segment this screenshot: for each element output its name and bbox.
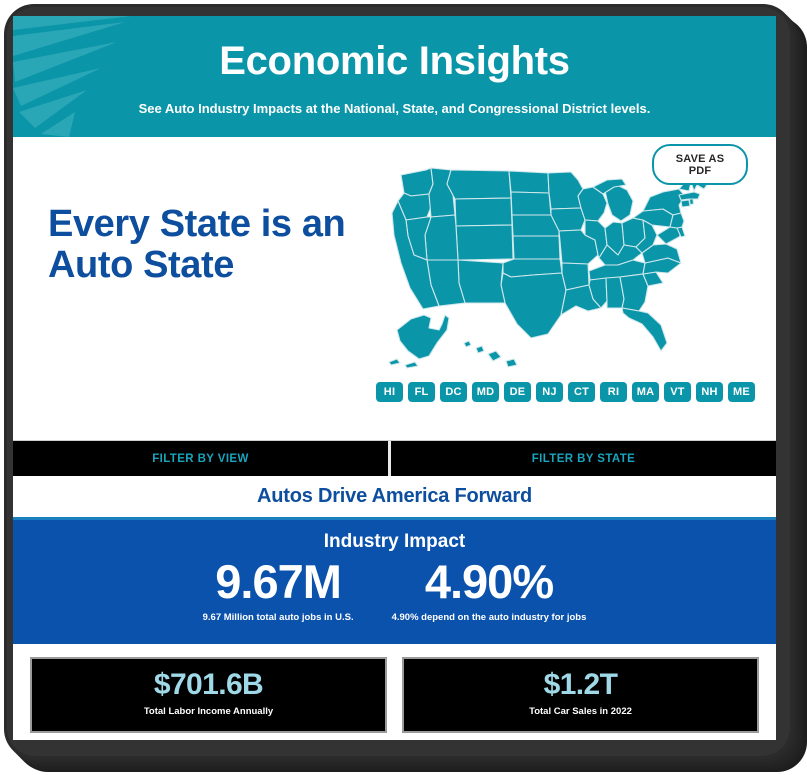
state-chip-nj[interactable]: NJ: [536, 382, 563, 402]
state-hi-2: [476, 346, 484, 353]
state-mt: [447, 170, 511, 199]
stat-total-auto-jobs: 9.67M 9.67 Million total auto jobs in U.…: [203, 558, 354, 623]
stat-value: 4.90%: [392, 558, 587, 605]
page-header: Economic Insights See Auto Industry Impa…: [13, 16, 776, 137]
page-subtitle: See Auto Industry Impacts at the Nationa…: [13, 101, 776, 116]
state-chip-ri[interactable]: RI: [600, 382, 627, 402]
card-value: $701.6B: [32, 669, 385, 701]
state-co: [456, 225, 513, 260]
card-total-labor-income[interactable]: $701.6B Total Labor Income Annually: [30, 657, 387, 733]
summary-card-list: $701.6B Total Labor Income Annually $1.2…: [13, 644, 776, 733]
hero-heading: Every State is an Auto State: [48, 204, 368, 286]
state-chip-me[interactable]: ME: [728, 382, 755, 402]
state-chip-de[interactable]: DE: [504, 382, 531, 402]
hero-section: SAVE AS PDF Every State is an Auto State: [13, 137, 776, 440]
state-wa: [401, 168, 433, 196]
us-states-map[interactable]: [383, 165, 713, 373]
state-chip-ma[interactable]: MA: [632, 382, 659, 402]
state-wy: [455, 198, 512, 226]
state-ga: [620, 274, 648, 311]
state-mn: [548, 172, 583, 209]
filter-by-state-button[interactable]: FILTER BY STATE: [391, 441, 776, 476]
state-chip-hi[interactable]: HI: [376, 382, 403, 402]
card-total-car-sales[interactable]: $1.2T Total Car Sales in 2022: [402, 657, 759, 733]
state-ks: [513, 236, 560, 259]
hero-heading-line-1: Every State is an: [48, 203, 345, 245]
save-as-pdf-button[interactable]: SAVE AS PDF: [652, 144, 748, 185]
filter-bar: FILTER BY VIEW FILTER BY STATE: [13, 440, 776, 476]
state-hi-1: [464, 341, 471, 347]
state-tx: [501, 273, 566, 338]
state-sd: [511, 192, 551, 215]
card-label: Total Labor Income Annually: [32, 706, 385, 717]
tablet-device-frame: Economic Insights See Auto Industry Impa…: [0, 0, 807, 775]
stat-label: 9.67 Million total auto jobs in U.S.: [203, 612, 354, 623]
state-ak: [397, 315, 449, 359]
state-chip-md[interactable]: MD: [472, 382, 499, 402]
state-hi-3: [488, 351, 501, 361]
state-nd: [509, 171, 549, 193]
save-as-pdf-container: SAVE AS PDF: [652, 144, 748, 185]
state-chip-list: HI FL DC MD DE NJ CT RI MA VT NH ME: [376, 382, 771, 402]
state-chip-fl[interactable]: FL: [408, 382, 435, 402]
section-title-band: Autos Drive America Forward: [13, 476, 776, 517]
stat-auto-industry-dependency: 4.90% 4.90% depend on the auto industry …: [392, 558, 587, 623]
card-value: $1.2T: [404, 669, 757, 701]
hero-heading-line-2: Auto State: [48, 244, 234, 286]
industry-impact-stats: 9.67M 9.67 Million total auto jobs in U.…: [13, 558, 776, 623]
page-title: Economic Insights: [13, 39, 776, 84]
state-chip-nh[interactable]: NH: [696, 382, 723, 402]
stat-value: 9.67M: [203, 558, 354, 605]
state-nm: [458, 260, 505, 303]
state-ak-isl-1: [389, 359, 400, 365]
stat-label: 4.90% depend on the auto industry for jo…: [392, 612, 587, 623]
state-fl: [622, 308, 667, 351]
filter-by-view-button[interactable]: FILTER BY VIEW: [13, 441, 388, 476]
industry-impact-title: Industry Impact: [13, 520, 776, 553]
state-ne: [512, 215, 559, 236]
screen-bottom-padding: [13, 733, 776, 740]
state-chip-ct[interactable]: CT: [568, 382, 595, 402]
state-chip-vt[interactable]: VT: [664, 382, 691, 402]
state-ak-isl-2: [405, 362, 418, 368]
state-hi-4: [506, 359, 517, 367]
state-chip-dc[interactable]: DC: [440, 382, 467, 402]
tablet-screen: Economic Insights See Auto Industry Impa…: [13, 16, 776, 740]
industry-impact-section: Industry Impact 9.67M 9.67 Million total…: [13, 517, 776, 644]
state-ct: [681, 200, 690, 207]
section-title: Autos Drive America Forward: [257, 485, 532, 508]
card-label: Total Car Sales in 2022: [404, 706, 757, 717]
